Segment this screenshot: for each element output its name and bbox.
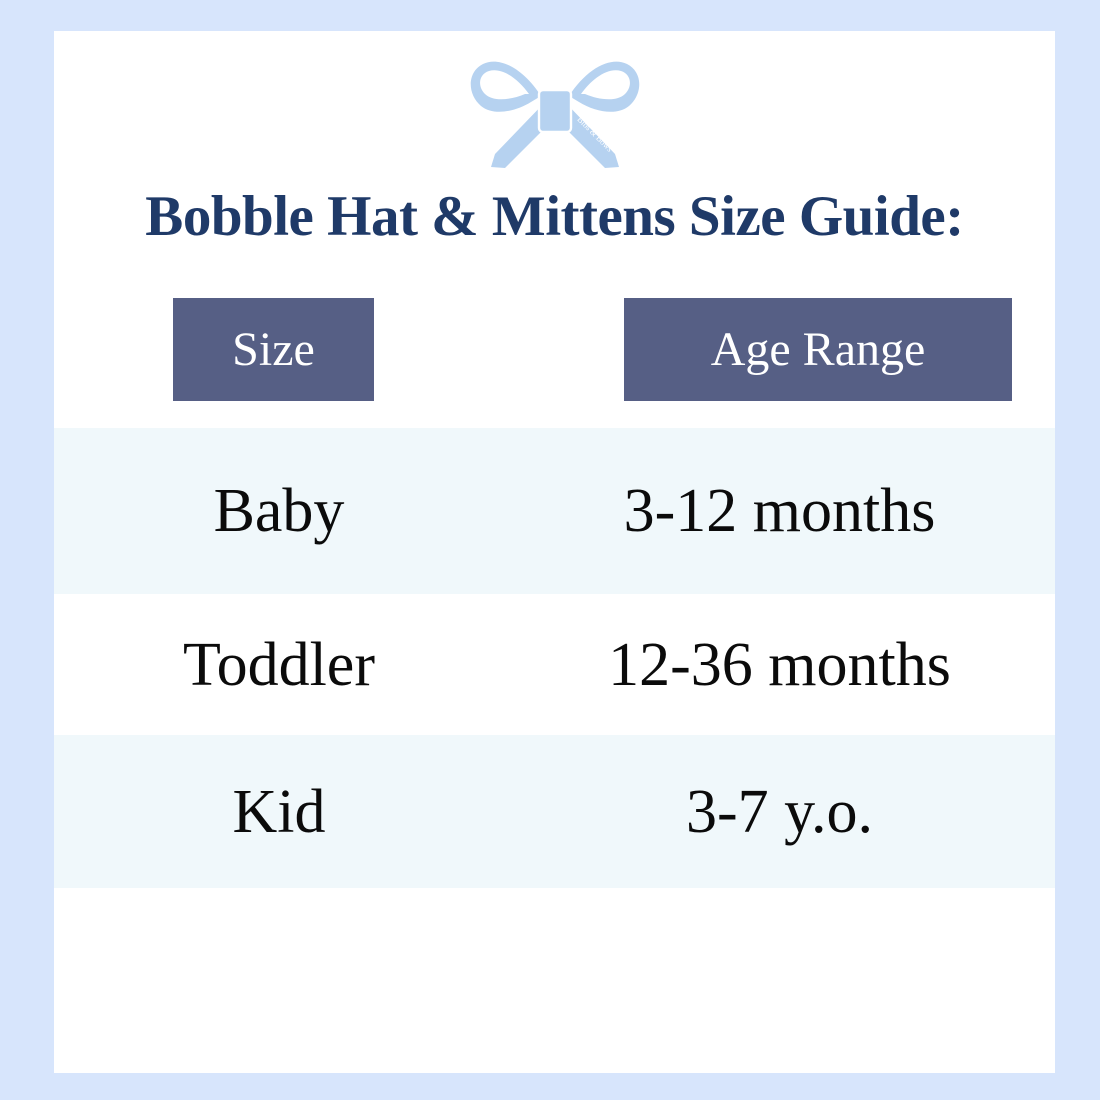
cell-age-range: 3-7 y.o. <box>504 781 1055 843</box>
page-title: Bobble Hat & Mittens Size Guide: <box>54 184 1055 249</box>
column-header-age-range: Age Range <box>624 298 1012 401</box>
table-row: Baby 3-12 months <box>54 428 1055 594</box>
cell-size: Kid <box>54 781 504 843</box>
column-header-size: Size <box>173 298 374 401</box>
card-bottom-spacer <box>54 888 1055 1073</box>
bow-logo: Bibs & Bows <box>465 50 645 175</box>
cell-size: Toddler <box>54 634 504 696</box>
cell-age-range: 3-12 months <box>504 480 1055 542</box>
cell-age-range: 12-36 months <box>504 634 1055 696</box>
cell-size: Baby <box>54 480 504 542</box>
table-row: Kid 3-7 y.o. <box>54 735 1055 888</box>
size-guide-card: Bibs & Bows Bobble Hat & Mittens Size Gu… <box>54 31 1055 1073</box>
bow-icon: Bibs & Bows <box>465 50 645 175</box>
size-guide-page: Bibs & Bows Bobble Hat & Mittens Size Gu… <box>0 0 1100 1100</box>
table-row: Toddler 12-36 months <box>54 594 1055 735</box>
